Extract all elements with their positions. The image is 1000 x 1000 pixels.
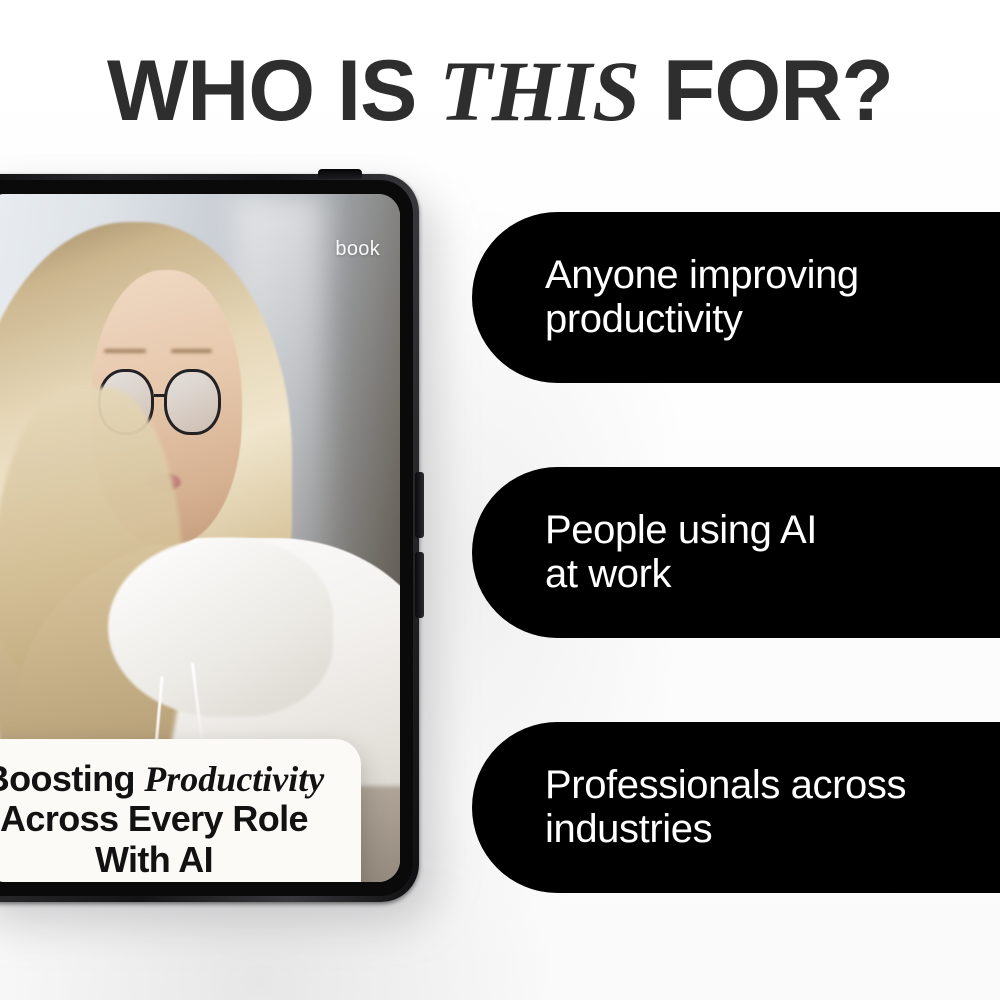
caption-line-1-plain: Boosting <box>0 758 144 799</box>
tablet-frame: book Boosting Productivity Across Every … <box>0 174 419 902</box>
volume-down-button-icon[interactable] <box>415 552 424 618</box>
page-title-part1: WHO IS <box>107 43 439 139</box>
audience-pill-3-label: Professionals across industries <box>545 764 906 851</box>
caption-card: Boosting Productivity Across Every Role … <box>0 739 361 882</box>
page-title: WHO IS THIS FOR? <box>0 48 1000 134</box>
poster-canvas: WHO IS THIS FOR? <box>0 0 1000 1000</box>
audience-pill-3[interactable]: Professionals across industries <box>472 722 1000 893</box>
page-title-part2: FOR? <box>640 43 893 139</box>
page-title-emphasis: THIS <box>439 43 640 139</box>
caption-line-2: Across Every Role <box>0 799 339 839</box>
power-button-icon[interactable] <box>318 169 362 179</box>
caption-line-3: With AI <box>0 840 339 880</box>
tablet-bezel: book Boosting Productivity Across Every … <box>0 180 413 896</box>
tablet-mockup: book Boosting Productivity Across Every … <box>0 174 438 916</box>
audience-pill-1[interactable]: Anyone improving productivity <box>472 212 1000 383</box>
audience-pill-2[interactable]: People using AI at work <box>472 467 1000 638</box>
brand-watermark: book <box>335 238 380 261</box>
audience-pill-2-label: People using AI at work <box>545 509 817 596</box>
tablet-screen[interactable]: book Boosting Productivity Across Every … <box>0 194 400 882</box>
caption-line-1-emphasis: Productivity <box>144 759 324 799</box>
caption-line-1: Boosting Productivity <box>0 759 339 799</box>
audience-pill-1-label: Anyone improving productivity <box>545 254 859 341</box>
volume-up-button-icon[interactable] <box>415 472 424 538</box>
